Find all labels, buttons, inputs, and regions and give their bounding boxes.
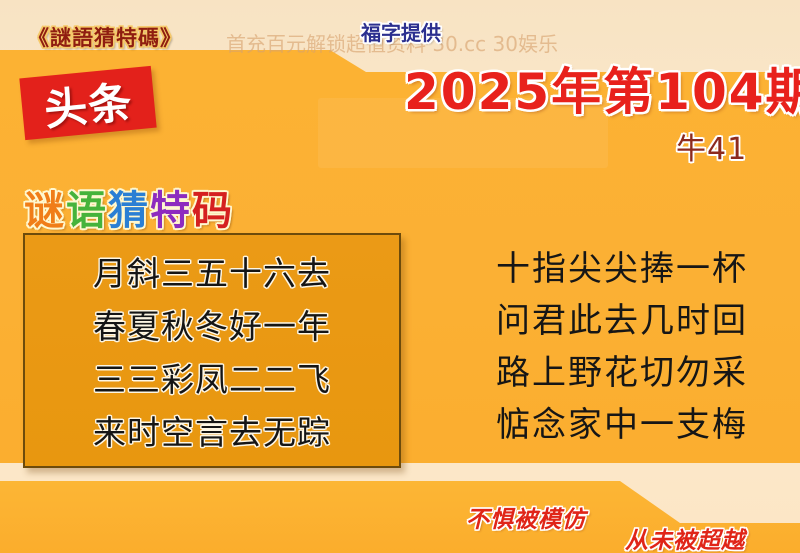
lottery-poster: 《謎語猜特碼》 首充百元解锁超值资料 30.cc 30娱乐 福字提供 2025年… [0, 0, 800, 553]
slogan-right: 从未被超越 [625, 521, 745, 553]
zodiac-number: 牛41 [676, 124, 747, 168]
rainbow-char-4: 码 [192, 178, 234, 236]
riddle-box: 月斜三五十六去 春夏秋冬好一年 三三彩凤二二飞 来时空言去无踪 [23, 233, 401, 468]
issue-headline: 2025年第104期 [404, 52, 800, 124]
poem-line-1: 十指尖尖捧一杯 [452, 243, 792, 295]
poem-line-3: 路上野花切勿采 [452, 347, 792, 399]
provider-stamp: 福字提供 [361, 17, 441, 46]
riddle-line-2: 春夏秋冬好一年 [41, 300, 383, 353]
poem-block: 十指尖尖捧一杯 问君此去几时回 路上野花切勿采 惦念家中一支梅 [452, 243, 792, 451]
rainbow-char-1: 语 [66, 178, 108, 236]
riddle-line-1: 月斜三五十六去 [41, 247, 383, 300]
rainbow-char-2: 猜 [108, 178, 150, 236]
traditional-title: 《謎語猜特碼》 [28, 22, 182, 52]
rainbow-title: 谜语猜特码 [24, 178, 234, 236]
riddle-line-3: 三三彩凤二二飞 [41, 353, 383, 406]
toutiao-badge-label: 头条 [19, 66, 156, 140]
rainbow-char-3: 特 [150, 178, 192, 236]
slogan-left: 不惧被模仿 [466, 500, 586, 534]
poem-line-4: 惦念家中一支梅 [452, 399, 792, 451]
toutiao-badge: 头条 [19, 66, 156, 140]
rainbow-char-0: 谜 [24, 178, 66, 236]
poem-line-2: 问君此去几时回 [452, 295, 792, 347]
riddle-line-4: 来时空言去无踪 [41, 406, 383, 459]
